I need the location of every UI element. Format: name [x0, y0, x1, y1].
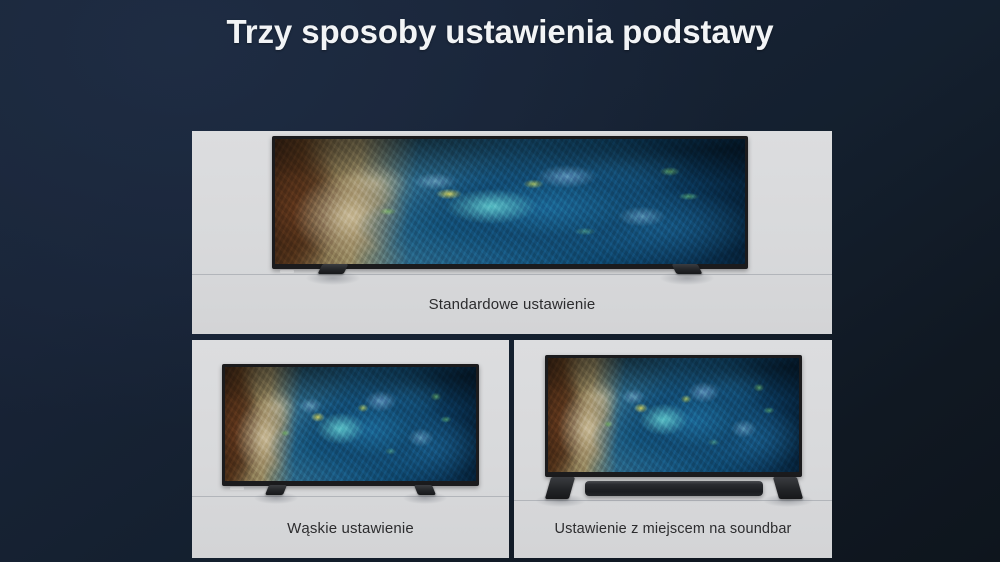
crystal-artwork-narrow [225, 367, 476, 481]
tv-standard [272, 136, 748, 269]
tv-foot-standard-right [672, 264, 703, 274]
sony-logo-standard [280, 270, 294, 273]
tv-foot-standard-left [318, 264, 349, 274]
page-title: Trzy sposoby ustawienia podstawy [0, 10, 1000, 54]
tv-screen-soundbar [545, 355, 802, 477]
tv-screen-narrow [222, 364, 479, 486]
panel-soundbar-setup: Ustawienie z miejscem na soundbar [514, 340, 832, 558]
surface-line-standard [192, 274, 832, 275]
tv-narrow [222, 364, 479, 486]
tv-foot-narrow-right [414, 485, 436, 495]
panel-narrow-setup: Wąskie ustawienie [192, 340, 509, 558]
panel-caption-standard: Standardowe ustawienie [192, 296, 832, 313]
crystal-artwork-soundbar [548, 358, 799, 472]
tv-screen-standard [272, 136, 748, 269]
soundbar-device [585, 481, 763, 496]
crystal-artwork-standard [275, 139, 745, 264]
tv-foot-soundbar-right [773, 477, 803, 499]
panel-caption-narrow: Wąskie ustawienie [192, 520, 509, 537]
sony-logo-narrow [230, 487, 244, 490]
panel-standard-setup: Standardowe ustawienie [192, 131, 832, 334]
surface-line-narrow [192, 496, 509, 497]
slide-stage: Trzy sposoby ustawienia podstawy Standar… [0, 0, 1000, 562]
tv-soundbar [545, 355, 802, 477]
panel-caption-soundbar: Ustawienie z miejscem na soundbar [514, 521, 832, 537]
